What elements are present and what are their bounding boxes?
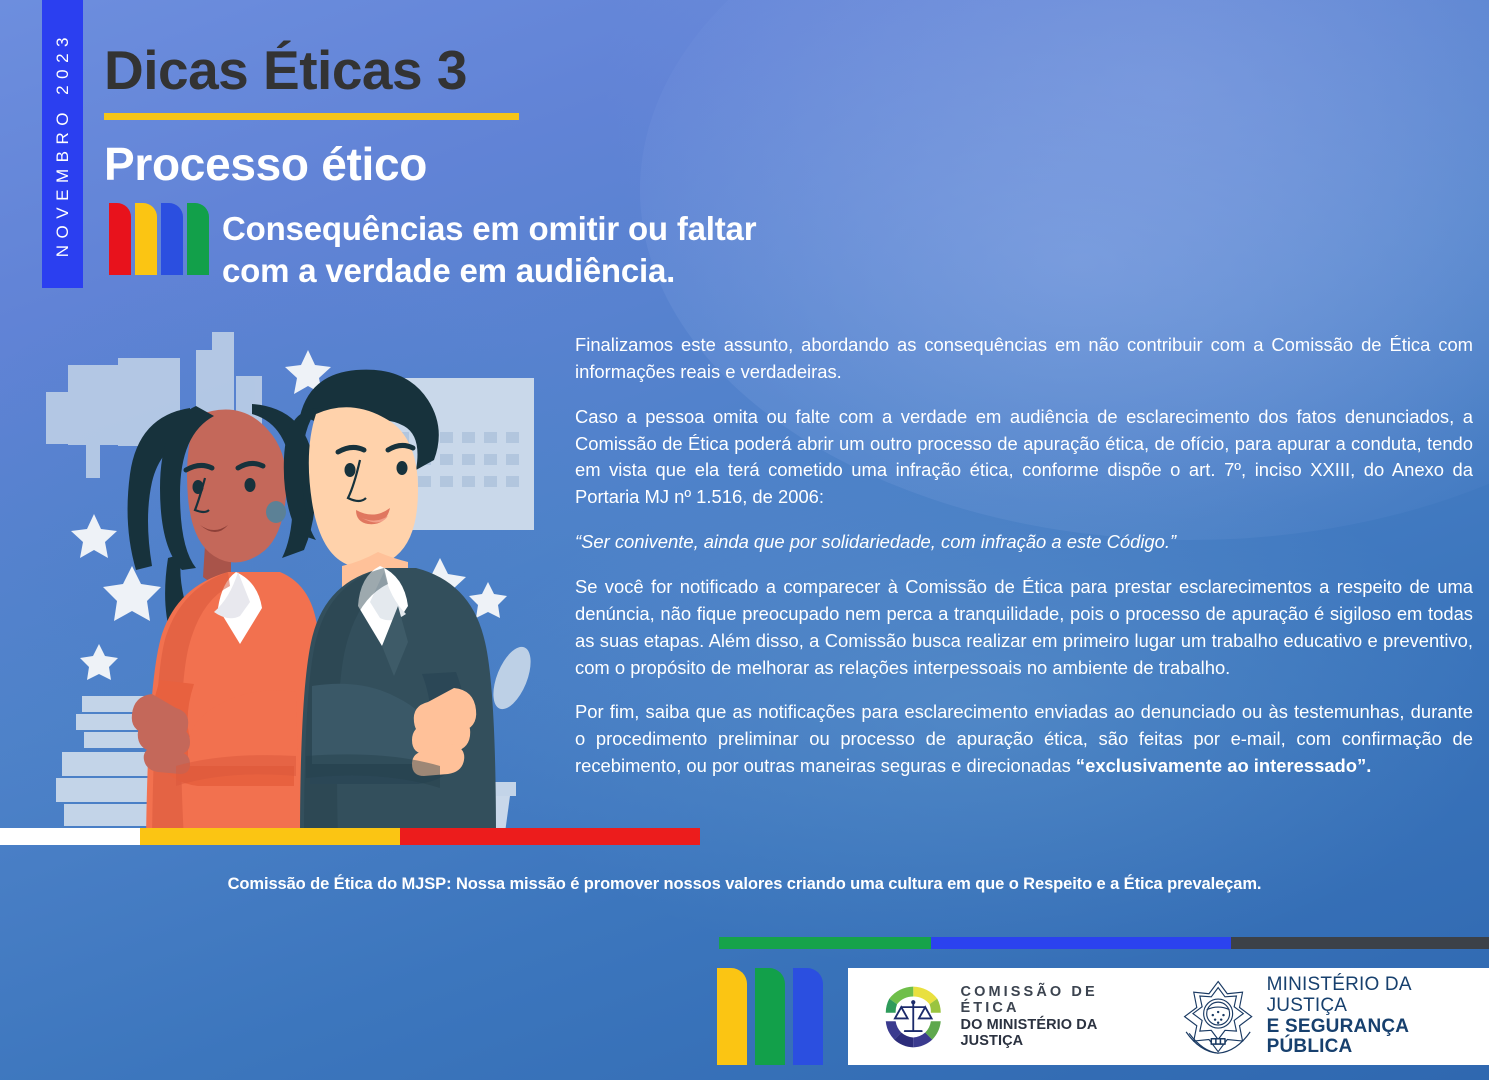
title-underline [104,113,519,120]
paragraph-4: Se você for notificado a comparecer à Co… [575,574,1473,681]
ethics-commission-wordmark: COMISSÃO DE ÉTICA DO MINISTÉRIO DA JUSTI… [961,984,1155,1049]
tagline-line-2: com a verdade em audiência. [222,250,1002,292]
body-copy: Finalizamos este assunto, abordando as c… [575,332,1473,798]
tagline-line-1: Consequências em omitir ou faltar [222,208,1002,250]
brand-bar-blue [161,203,183,275]
footer-logo-plate: COMISSÃO DE ÉTICA DO MINISTÉRIO DA JUSTI… [848,968,1489,1065]
ministry-logo-line-1: MINISTÉRIO DA JUSTIÇA [1267,975,1489,1017]
paragraph-2: Caso a pessoa omita ou falte com a verda… [575,404,1473,511]
ethics-commission-logo: COMISSÃO DE ÉTICA DO MINISTÉRIO DA JUSTI… [878,980,1154,1054]
footer-stripe-green [719,937,931,949]
accent-tribar [0,828,700,845]
illustration-two-people [0,320,560,840]
scales-of-justice-icon [878,980,949,1054]
footer-bar-blue [793,968,823,1065]
mission-statement: Comissão de Ética do MJSP: Nossa missão … [0,875,1489,894]
footer-stripe-blue [931,937,1231,949]
ethics-logo-line-2: DO MINISTÉRIO DA JUSTIÇA [961,1017,1155,1049]
ethics-logo-line-1: COMISSÃO DE ÉTICA [961,984,1155,1016]
footer-bar-yellow [717,968,747,1065]
paragraph-quote: “Ser conivente, ainda que por solidaried… [575,529,1473,556]
page-tagline: Consequências em omitir ou faltar com a … [222,208,1002,291]
ministry-logo-line-2: E SEGURANÇA PÚBLICA [1267,1017,1489,1059]
brand-bar-green [187,203,209,275]
brand-bars [109,203,209,275]
footer-bar-green [755,968,785,1065]
ministry-logo: MINISTÉRIO DA JUSTIÇA E SEGURANÇA PÚBLIC… [1180,975,1489,1059]
brand-bar-red [109,203,131,275]
footer-stripe-dark [1231,937,1489,949]
page-title: Dicas Éticas 3 [104,43,467,98]
footer-brand-bars [717,968,823,1065]
paragraph-5-emphasis: “exclusivamente ao interessado”. [1076,755,1371,776]
brazil-coat-of-arms-icon [1180,975,1256,1059]
date-rail-label: NOVEMBRO 2023 [53,31,73,257]
footer-stripe [719,937,1489,949]
brand-bar-yellow [135,203,157,275]
tribar-segment-red [400,828,700,845]
date-rail: NOVEMBRO 2023 [42,0,83,288]
tribar-segment-white [0,828,140,845]
page-subtitle: Processo ético [104,140,427,188]
paragraph-1: Finalizamos este assunto, abordando as c… [575,332,1473,386]
paragraph-5: Por fim, saiba que as notificações para … [575,699,1473,780]
ministry-wordmark: MINISTÉRIO DA JUSTIÇA E SEGURANÇA PÚBLIC… [1267,975,1489,1059]
poster-canvas: NOVEMBRO 2023 Dicas Éticas 3 Processo ét… [0,0,1489,1080]
tribar-segment-yellow [140,828,400,845]
